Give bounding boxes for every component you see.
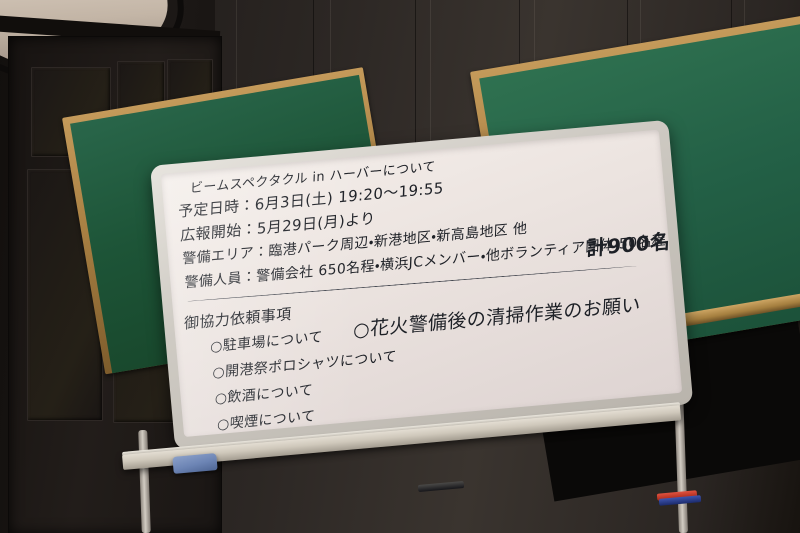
request-item-parking: ○駐車場について — [210, 326, 323, 356]
request-item-drinking: ○飲酒について — [215, 379, 314, 408]
whiteboard-surface[interactable]: ビームスペクタクル in ハーバーについて 予定日時：6月3日(土) 19:20… — [161, 130, 682, 437]
request-heading: 御協力依頼事項 — [184, 303, 292, 334]
photo-scene: ビームスペクタクル in ハーバーについて 予定日時：6月3日(土) 19:20… — [0, 0, 800, 533]
right-note-cleanup: ○花火警備後の清掃作業のお願い — [353, 290, 641, 343]
whiteboard[interactable]: ビームスペクタクル in ハーバーについて 予定日時：6月3日(土) 19:20… — [150, 120, 693, 450]
total-count: 計900名 — [586, 225, 670, 262]
